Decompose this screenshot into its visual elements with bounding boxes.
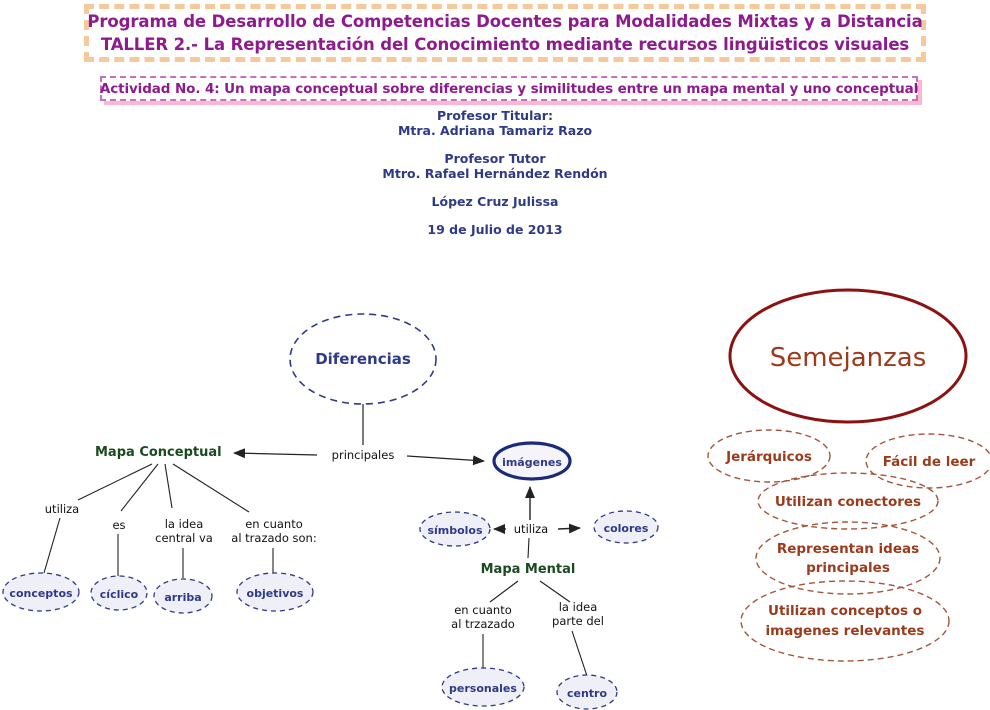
node-ciclico-label: cíclico bbox=[100, 588, 139, 601]
edge-label-trazado-1: en cuanto bbox=[245, 517, 303, 531]
edge-label-trazado-2: al trazado son: bbox=[231, 531, 316, 545]
edge-conceptual-trazado bbox=[173, 464, 249, 512]
edge-label-utiliza-mental: utiliza bbox=[514, 522, 548, 536]
edge-mental-trzazado bbox=[490, 581, 518, 602]
node-utilizan-conceptos[interactable] bbox=[741, 581, 949, 661]
edge-utiliza-to-colores bbox=[558, 528, 580, 529]
node-representan-ideas-label-2: principales bbox=[806, 560, 890, 576]
node-personales-label: personales bbox=[449, 682, 517, 695]
edge-label-idea-parte-2: parte del bbox=[552, 614, 604, 628]
node-facil-de-leer-label: Fácil de leer bbox=[883, 454, 976, 470]
edge-conceptual-idea-central bbox=[165, 464, 172, 508]
edge-label-trzazado-1: en cuanto bbox=[454, 603, 512, 617]
node-arriba-label: arriba bbox=[164, 591, 201, 604]
node-simbolos-label: símbolos bbox=[427, 524, 483, 537]
edge-stem-centro bbox=[572, 631, 587, 676]
node-objetivos-label: objetivos bbox=[247, 587, 304, 600]
edge-label-idea-parte-1: la idea bbox=[559, 600, 598, 614]
edge-label-utiliza: utiliza bbox=[45, 502, 79, 516]
node-mapa-mental-label: Mapa Mental bbox=[481, 562, 576, 577]
edge-label-idea-central-2: central va bbox=[155, 531, 213, 545]
node-mapa-conceptual-label: Mapa Conceptual bbox=[95, 445, 222, 460]
node-colores-label: colores bbox=[604, 522, 649, 535]
edge-label-idea-central-1: la idea bbox=[165, 517, 204, 531]
node-conceptos-label: conceptos bbox=[9, 587, 73, 600]
edge-root-to-conceptual bbox=[234, 453, 317, 455]
edge-conceptual-utiliza bbox=[78, 464, 152, 500]
node-representan-ideas-label-1: Representan ideas bbox=[777, 541, 919, 557]
edge-label-principales: principales bbox=[332, 448, 395, 462]
concept-map-canvas: Diferencias principales Mapa Conceptual … bbox=[0, 0, 990, 710]
edge-stem-conceptos bbox=[44, 518, 60, 573]
node-imagenes-label: imágenes bbox=[502, 456, 562, 469]
edge-root-to-imagenes bbox=[407, 456, 484, 461]
node-utilizan-conectores-label: Utilizan conectores bbox=[775, 494, 921, 510]
node-representan-ideas[interactable] bbox=[756, 522, 940, 594]
node-centro-label: centro bbox=[567, 687, 607, 700]
node-diferencias-label: Diferencias bbox=[315, 350, 411, 368]
edge-label-trzazado-2: al trzazado bbox=[451, 617, 515, 631]
node-jerarquicos-label: Jerárquicos bbox=[725, 449, 812, 465]
edge-mental-idea-parte bbox=[540, 581, 570, 602]
edge-mental-stem bbox=[528, 538, 529, 558]
node-semejanzas-label: Semejanzas bbox=[770, 343, 927, 373]
edge-conceptual-es bbox=[121, 464, 158, 511]
edge-label-es: es bbox=[112, 518, 125, 532]
node-utilizan-conceptos-label-2: imagenes relevantes bbox=[766, 623, 925, 639]
node-utilizan-conceptos-label-1: Utilizan conceptos o bbox=[768, 603, 922, 619]
